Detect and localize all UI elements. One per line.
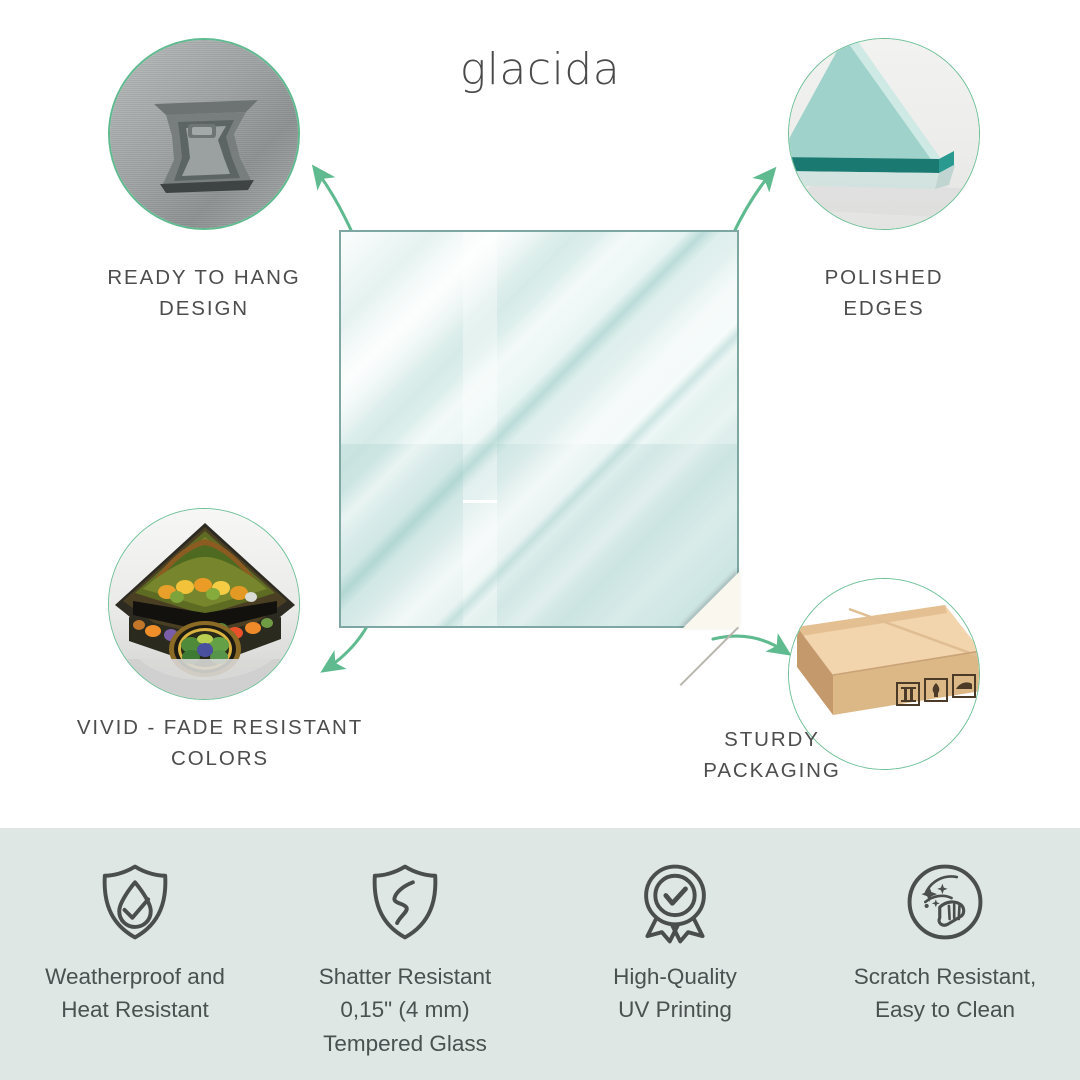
award-ribbon-check-icon [633, 860, 717, 944]
glass-panel [339, 230, 739, 628]
glass-streak [339, 230, 613, 628]
glass-streak [339, 230, 739, 628]
bottom-feature-shatter-resistant: Shatter Resistant 0,15" (4 mm) Tempered … [280, 860, 530, 1060]
feature-circle-ready-to-hang [108, 38, 300, 230]
bottom-feature-weatherproof: Weatherproof and Heat Resistant [10, 860, 260, 1027]
feature-circle-polished-edges [788, 38, 980, 230]
bottom-feature-label: Shatter Resistant 0,15" (4 mm) Tempered … [319, 960, 492, 1060]
glass-vertical-reflection [463, 232, 497, 628]
bottom-feature-scratch-resistant: Scratch Resistant, Easy to Clean [820, 860, 1070, 1027]
glass-reflection-highlight [463, 500, 497, 503]
caption-vivid-colors: VIVID - FADE RESISTANT COLORS [34, 712, 406, 774]
glass-streak [339, 230, 739, 628]
infographic-canvas: glacida [0, 0, 1080, 1080]
peeled-corner [682, 571, 740, 629]
caption-ready-to-hang: READY TO HANG DESIGN [34, 262, 374, 324]
polished-edge-icon [789, 39, 980, 230]
glass-streak [339, 230, 739, 628]
shield-droplet-check-icon [93, 860, 177, 944]
shield-bolt-icon [363, 860, 447, 944]
glass-streak [339, 230, 739, 628]
peeled-corner-edge [680, 627, 739, 686]
glass-streak [339, 230, 739, 628]
hanging-bracket-icon [148, 88, 264, 196]
caption-polished-edges: POLISHED EDGES [744, 262, 1024, 324]
bottom-feature-label: High-Quality UV Printing [613, 960, 737, 1027]
stained-glass-artwork-icon [109, 509, 300, 700]
bottom-feature-uv-printing: High-Quality UV Printing [550, 860, 800, 1027]
glass-reflection-band [341, 444, 737, 628]
feature-circle-vivid-colors [108, 508, 300, 700]
bottom-feature-bar: Weatherproof and Heat Resistant Shatter … [0, 828, 1080, 1080]
sparkle-wiping-hand-icon [903, 860, 987, 944]
glass-surface [339, 230, 739, 628]
bottom-feature-label: Scratch Resistant, Easy to Clean [854, 960, 1037, 1027]
bottom-feature-label: Weatherproof and Heat Resistant [45, 960, 225, 1027]
caption-sturdy-packaging: STURDY PACKAGING [640, 724, 904, 786]
